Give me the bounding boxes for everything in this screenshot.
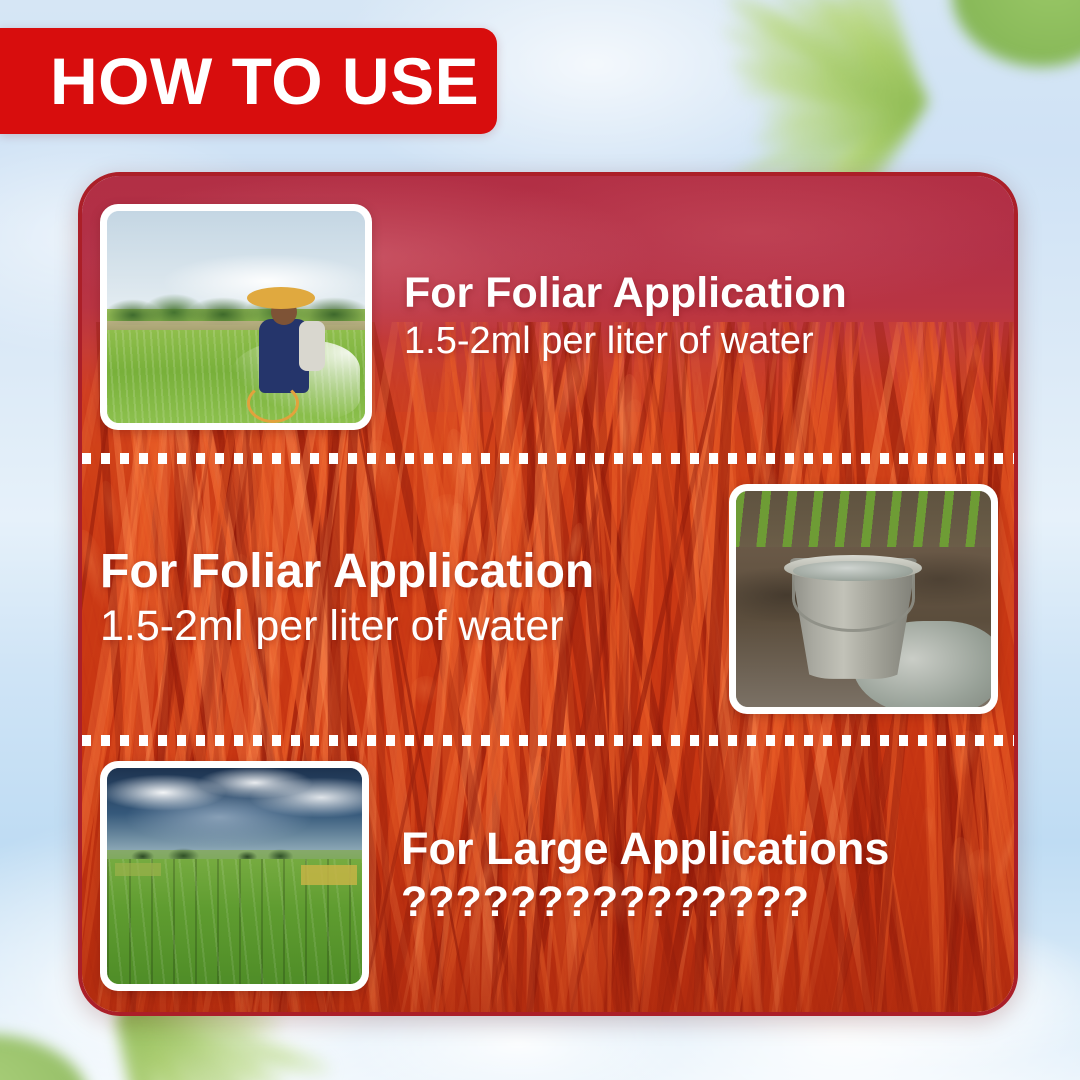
farmer-spraying-rice-field-photo xyxy=(107,211,365,423)
row-text-block: For Foliar Application 1.5-2ml per liter… xyxy=(82,547,729,650)
aerial-green-crop-field-photo xyxy=(107,768,362,984)
row-subtitle: ??????????????? xyxy=(401,879,1014,926)
row-thumbnail xyxy=(729,484,998,714)
row-divider xyxy=(82,453,1014,464)
row-thumbnail xyxy=(100,204,372,430)
instruction-row: For Large Applications ??????????????? xyxy=(82,740,1014,1012)
infographic-canvas: HOW TO USE xyxy=(0,0,1080,1080)
row-subtitle: 1.5-2ml per liter of water xyxy=(100,603,705,650)
row-text-block: For Large Applications ??????????????? xyxy=(369,826,1014,926)
page-title: HOW TO USE xyxy=(50,48,479,114)
row-subtitle: 1.5-2ml per liter of water xyxy=(404,321,1014,363)
row-text-block: For Foliar Application 1.5-2ml per liter… xyxy=(372,271,1014,364)
instructions-panel: For Foliar Application 1.5-2ml per liter… xyxy=(78,172,1018,1016)
row-divider xyxy=(82,735,1014,746)
bucket-of-water-in-field-photo xyxy=(736,491,991,707)
instruction-row: For Foliar Application 1.5-2ml per liter… xyxy=(82,176,1014,458)
row-title: For Large Applications xyxy=(401,826,1014,873)
row-title: For Foliar Application xyxy=(100,547,705,597)
instruction-row: For Foliar Application 1.5-2ml per liter… xyxy=(82,458,1014,740)
header-banner: HOW TO USE xyxy=(0,28,497,134)
row-title: For Foliar Application xyxy=(404,271,1014,316)
row-thumbnail xyxy=(100,761,369,991)
instruction-rows: For Foliar Application 1.5-2ml per liter… xyxy=(82,176,1014,1012)
